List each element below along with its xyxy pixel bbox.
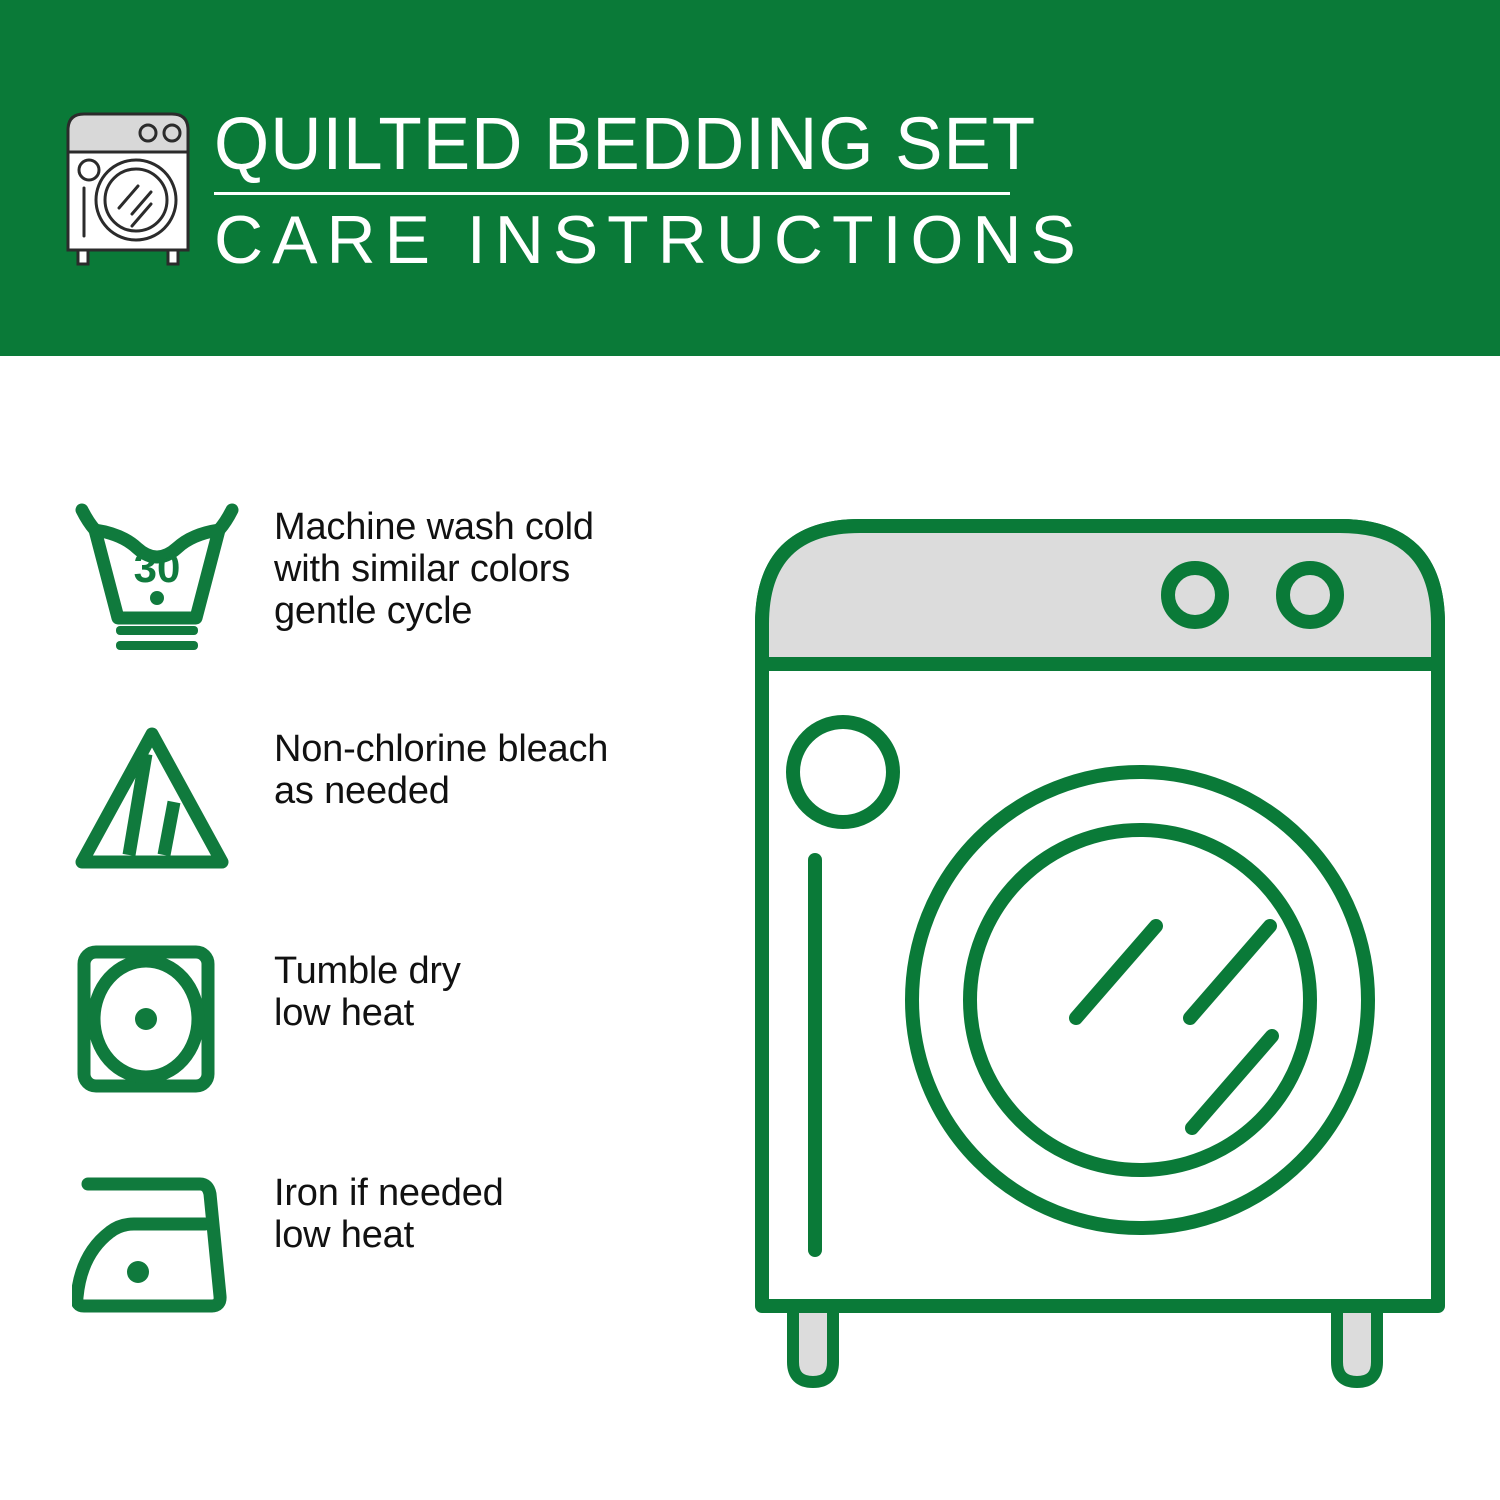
header-banner: QUILTED BEDDING SET CARE INSTRUCTIONS: [0, 0, 1500, 356]
care-instruction-list: 30 Machine wash cold with similar colors…: [0, 500, 720, 1388]
front-load-washing-machine-illustration: [740, 500, 1460, 1430]
care-row-iron: Iron if needed low heat: [0, 1166, 720, 1388]
header-text-block: QUILTED BEDDING SET CARE INSTRUCTIONS: [214, 104, 1024, 279]
care-row-bleach: Non-chlorine bleach as needed: [0, 722, 720, 944]
tumble-dry-low-heat-icon: [72, 944, 242, 1104]
care-label-line: Non-chlorine bleach: [274, 728, 608, 770]
page-subtitle: CARE INSTRUCTIONS: [214, 201, 1024, 279]
wash-temperature-label: 30: [134, 544, 181, 591]
care-label-iron: Iron if needed low heat: [274, 1166, 504, 1256]
care-label-machine-wash: Machine wash cold with similar colors ge…: [274, 500, 594, 632]
care-label-line: with similar colors: [274, 548, 594, 590]
care-label-line: gentle cycle: [274, 590, 594, 632]
wash-tub-30-gentle-icon: 30: [72, 500, 242, 660]
care-label-line: as needed: [274, 770, 608, 812]
page-title: QUILTED BEDDING SET: [214, 104, 992, 184]
care-label-bleach: Non-chlorine bleach as needed: [274, 722, 608, 812]
care-label-line: Machine wash cold: [274, 506, 594, 548]
care-label-tumble-dry: Tumble dry low heat: [274, 944, 461, 1034]
title-divider: [214, 192, 1010, 195]
washing-machine-icon: [62, 108, 194, 268]
care-label-line: low heat: [274, 1214, 504, 1256]
care-instructions-page: QUILTED BEDDING SET CARE INSTRUCTIONS 30: [0, 0, 1500, 1500]
care-label-line: Tumble dry: [274, 950, 461, 992]
care-row-machine-wash: 30 Machine wash cold with similar colors…: [0, 500, 720, 722]
care-row-tumble-dry: Tumble dry low heat: [0, 944, 720, 1166]
care-label-line: low heat: [274, 992, 461, 1034]
care-label-line: Iron if needed: [274, 1172, 504, 1214]
iron-low-heat-icon: [72, 1166, 242, 1326]
non-chlorine-bleach-triangle-icon: [72, 722, 242, 882]
